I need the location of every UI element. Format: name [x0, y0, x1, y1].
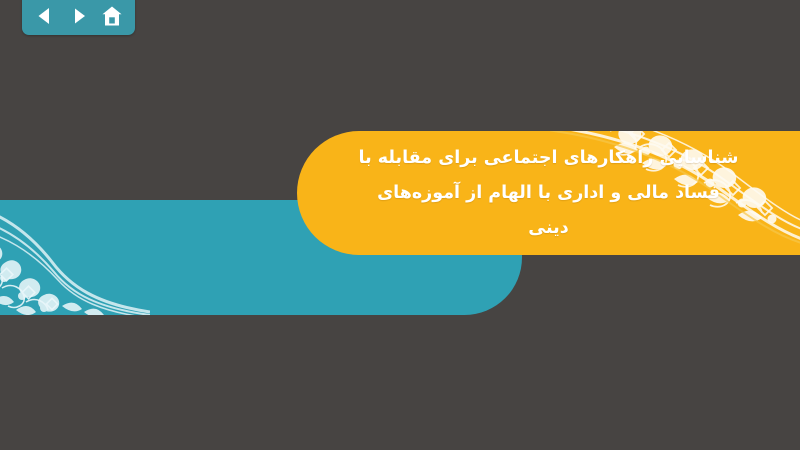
triangle-left-icon: [35, 6, 55, 26]
title-line-3: دینی: [528, 211, 568, 246]
title-line-2: فساد مالی و اداری با الهام از آموزه‌های: [377, 176, 720, 211]
house-icon: [101, 6, 123, 27]
title-panel: شناسایی راهکارهای اجتماعی برای مقابله با…: [297, 131, 800, 255]
title-line-1: شناسایی راهکارهای اجتماعی برای مقابله با: [359, 141, 739, 176]
home-button[interactable]: [98, 3, 126, 29]
arabesque-ornament-icon: [0, 200, 150, 315]
forward-button[interactable]: [65, 3, 93, 29]
back-button[interactable]: [31, 3, 59, 29]
slide-title: شناسایی راهکارهای اجتماعی برای مقابله با…: [297, 131, 800, 255]
navigation-bar: [22, 0, 135, 35]
triangle-right-icon: [69, 6, 89, 26]
slide-canvas: شناسایی راهکارهای اجتماعی برای مقابله با…: [0, 0, 800, 450]
